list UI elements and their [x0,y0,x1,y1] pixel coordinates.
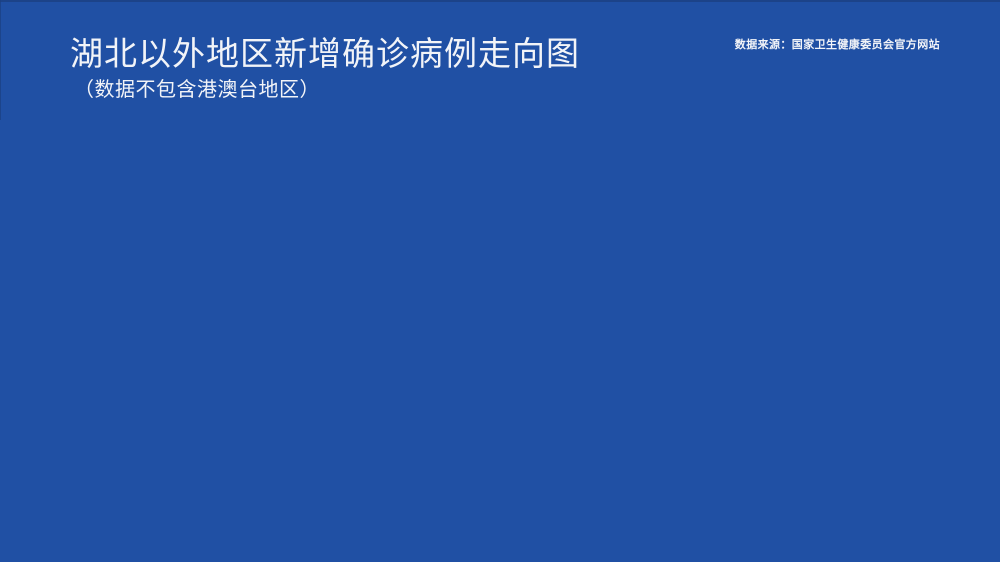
slide-header: 湖北以外地区新增确诊病例走向图 （数据不包含港澳台地区） 数据来源：国家卫生健康… [0,0,1000,120]
data-source-note: 数据来源：国家卫生健康委员会官方网站 [735,37,940,53]
page-title: 湖北以外地区新增确诊病例走向图 [70,33,580,75]
chart-area: 图表绘图区在本帧中为空白（内容尚未渲染） [0,120,1000,562]
page-subtitle: （数据不包含港澳台地区） [70,75,580,105]
chart-plot [0,120,1000,562]
title-block: 湖北以外地区新增确诊病例走向图 （数据不包含港澳台地区） [70,33,580,105]
slide-canvas: 湖北以外地区新增确诊病例走向图 （数据不包含港澳台地区） 数据来源：国家卫生健康… [0,0,1000,562]
